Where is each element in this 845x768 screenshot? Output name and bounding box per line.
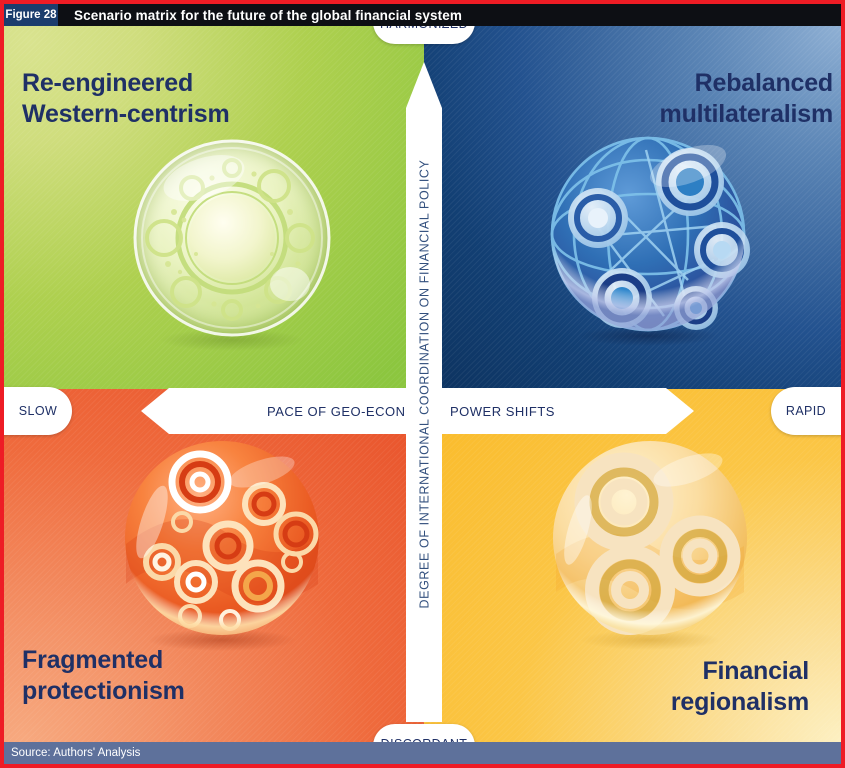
quadrant-title-bottom-right: Financial regionalism (671, 656, 809, 717)
yellow-globe-three-blocs-icon (540, 434, 760, 654)
blue-globe-network-nodes-icon (538, 130, 758, 350)
orange-globe-scattered-nodes-icon (112, 434, 332, 654)
quadrant-bottom-left[interactable]: Fragmented protectionism (4, 389, 424, 742)
green-globe-concentric-core-icon (122, 134, 342, 354)
figure-number-badge: Figure 28 (4, 4, 58, 26)
quadrant-title-bottom-left: Fragmented protectionism (22, 645, 185, 706)
quadrant-title-top-right: Rebalanced multilateralism (660, 68, 833, 129)
quadrant-top-left[interactable]: Re-engineered Western-centrism (4, 26, 424, 389)
scenario-matrix: Re-engineered Western-centrism (4, 26, 841, 742)
quadrant-title-top-left: Re-engineered Western-centrism (22, 68, 230, 129)
figure-inner: Re-engineered Western-centrism (4, 4, 841, 764)
figure-container: Re-engineered Western-centrism (0, 0, 845, 768)
source-note: Source: Authors' Analysis (4, 747, 140, 759)
figure-footer: Source: Authors' Analysis (4, 742, 841, 764)
figure-title: Scenario matrix for the future of the gl… (58, 4, 462, 26)
quadrant-bottom-right[interactable]: Financial regionalism (424, 389, 841, 742)
figure-header: Figure 28 Scenario matrix for the future… (4, 4, 841, 26)
quadrant-top-right[interactable]: Rebalanced multilateralism (424, 26, 841, 389)
